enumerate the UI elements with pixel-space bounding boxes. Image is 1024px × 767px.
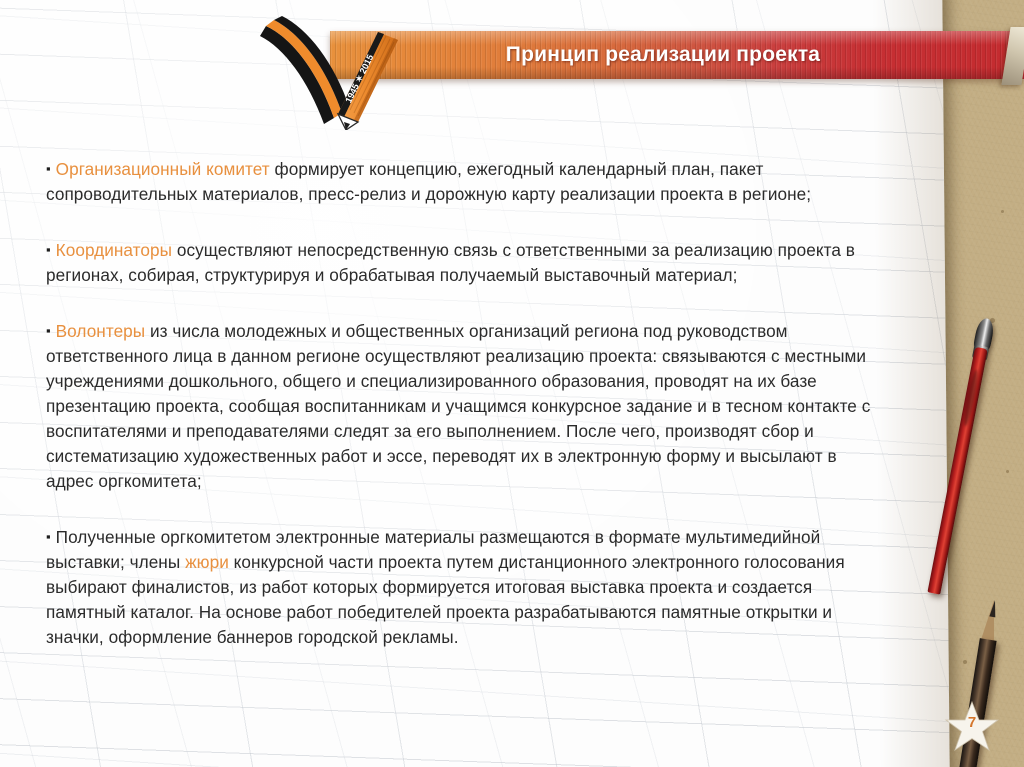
page-number-badge: 7 (944, 700, 1000, 754)
paragraph-koordinatory: ▪Координаторы осуществляют непосредствен… (46, 237, 888, 288)
paragraph-volontery: ▪Волонтеры из числа молодежных и обществ… (46, 318, 888, 494)
slide-title: Принцип реализации проекта (330, 31, 1024, 79)
paragraph-orgkomitet: ▪Организационный комитет формирует конце… (46, 156, 888, 207)
pencil-barrel (338, 32, 398, 122)
bullet-icon: ▪ (46, 161, 51, 176)
paragraph-text: из числа молодежных и общественных орган… (46, 321, 870, 491)
slide: Принцип реализации проекта (0, 0, 1024, 767)
paragraph-highlight: Организационный комитет (56, 159, 270, 179)
paragraph-materialy: ▪Полученные оргкомитетом электронные мат… (46, 524, 888, 650)
paragraph-highlight: Волонтеры (56, 321, 146, 341)
desk-speck (963, 660, 967, 664)
bullet-icon: ▪ (46, 242, 51, 257)
slide-body: ▪Организационный комитет формирует конце… (46, 156, 888, 650)
page-number: 7 (944, 714, 1000, 731)
bullet-icon: ▪ (46, 323, 51, 338)
paragraph-highlight: Координаторы (56, 240, 172, 260)
header-banner: Принцип реализации проекта (330, 31, 1024, 79)
bullet-icon: ▪ (46, 529, 51, 544)
st-george-ribbon-pencil-logo: 1945 ✶ 2015 (258, 14, 398, 130)
logo-svg: 1945 ✶ 2015 (258, 14, 398, 130)
paragraph-highlight: жюри (185, 552, 229, 572)
desk-speck (1001, 210, 1004, 213)
desk-speck (1006, 470, 1009, 473)
